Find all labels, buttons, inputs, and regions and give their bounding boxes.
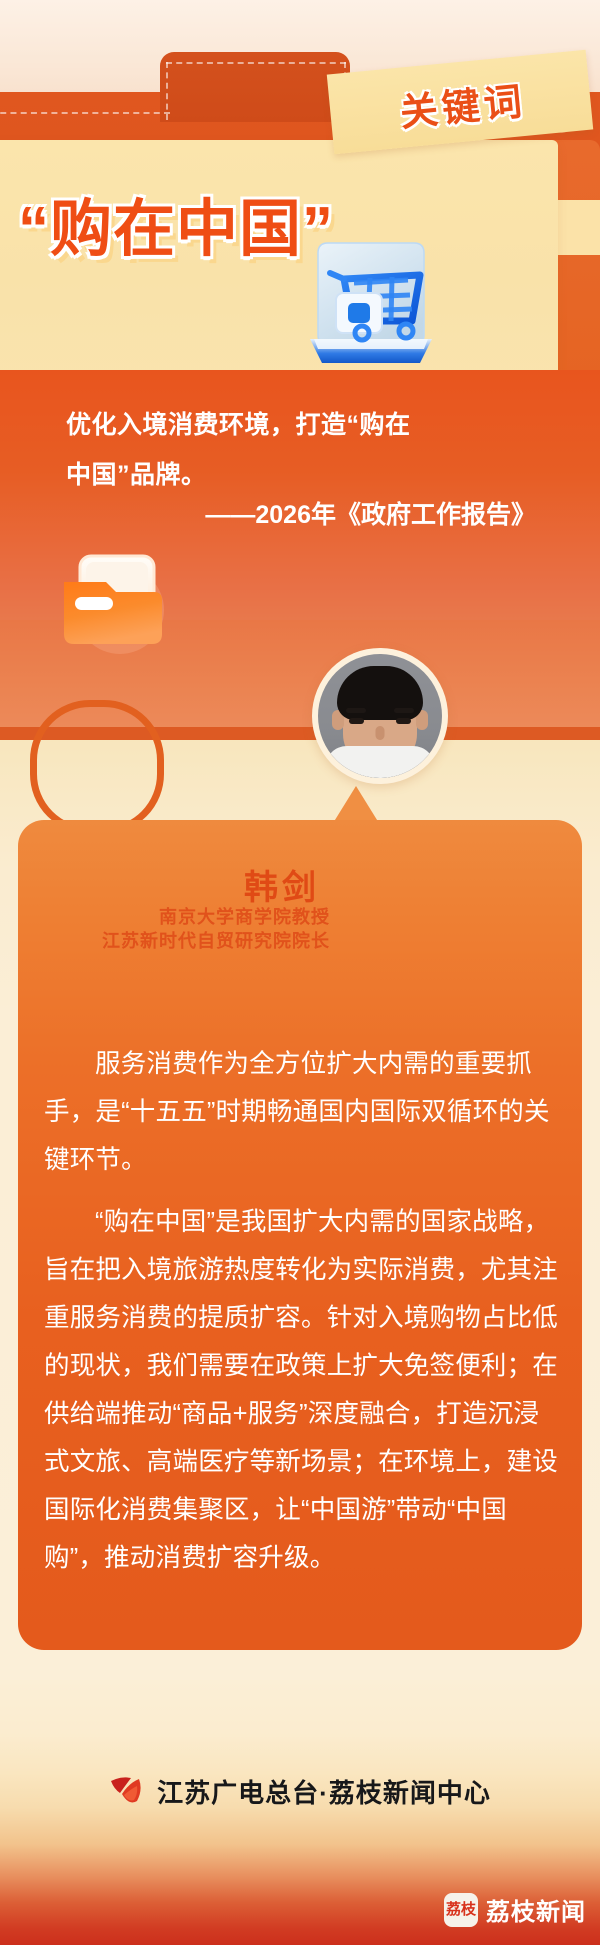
expert-credential-1: 南京大学商学院教授 — [0, 905, 330, 929]
poster-root: 关键词 “购在中国” — [0, 0, 600, 1945]
watermark-badge-text: 荔枝 — [446, 1902, 476, 1917]
avatar-brow-left — [346, 708, 366, 713]
dashed-line-tab-left — [166, 62, 168, 120]
quote-source: ——2026年《政府工作报告》 — [66, 495, 536, 531]
watermark: 荔枝 荔枝新闻 — [444, 1892, 586, 1927]
footer-logo-text: 江苏广电总台·荔枝新闻中心 — [157, 1773, 491, 1810]
avatar — [312, 648, 448, 784]
folder-3d-icon — [62, 548, 182, 658]
avatar-image — [318, 654, 442, 778]
footer-logo: 江苏广电总台·荔枝新闻中心 — [0, 1768, 600, 1814]
quote-line-1: 优化入境消费环境，打造“购在 — [66, 400, 536, 450]
avatar-eye-right — [396, 718, 411, 724]
jiangsu-broadcasting-logo-icon — [109, 1774, 145, 1808]
avatar-collar — [325, 746, 435, 778]
avatar-eye-left — [349, 718, 364, 724]
avatar-brow-right — [394, 708, 414, 713]
expert-credential-2: 江苏新时代自贸研究院院长 — [0, 929, 330, 953]
commentary-paragraph-2: “购在中国”是我国扩大内需的国家战略，旨在把入境旅游热度转化为实际消费，尤其注重… — [44, 1198, 560, 1582]
commentary-paragraph-1: 服务消费作为全方位扩大内需的重要抓手，是“十五五”时期畅通国内国际双循环的关键环… — [44, 1040, 560, 1184]
quote-line-2: 中国”品牌。 — [66, 450, 536, 500]
dashed-line-tab-top — [166, 62, 346, 64]
decorative-ring — [30, 700, 164, 834]
watermark-badge-icon: 荔枝 — [444, 1893, 478, 1927]
expert-name: 韩剑 — [0, 860, 320, 909]
shopping-cart-3d-icon — [296, 235, 446, 375]
avatar-nose — [376, 726, 385, 740]
expert-credentials: 南京大学商学院教授 江苏新时代自贸研究院院长 — [0, 905, 330, 953]
dashed-line-left — [0, 112, 170, 114]
watermark-text: 荔枝新闻 — [486, 1892, 586, 1927]
commentary-body: 服务消费作为全方位扩大内需的重要抓手，是“十五五”时期畅通国内国际双循环的关键环… — [44, 1040, 560, 1596]
quote-text: 优化入境消费环境，打造“购在 中国”品牌。 — [66, 400, 536, 500]
